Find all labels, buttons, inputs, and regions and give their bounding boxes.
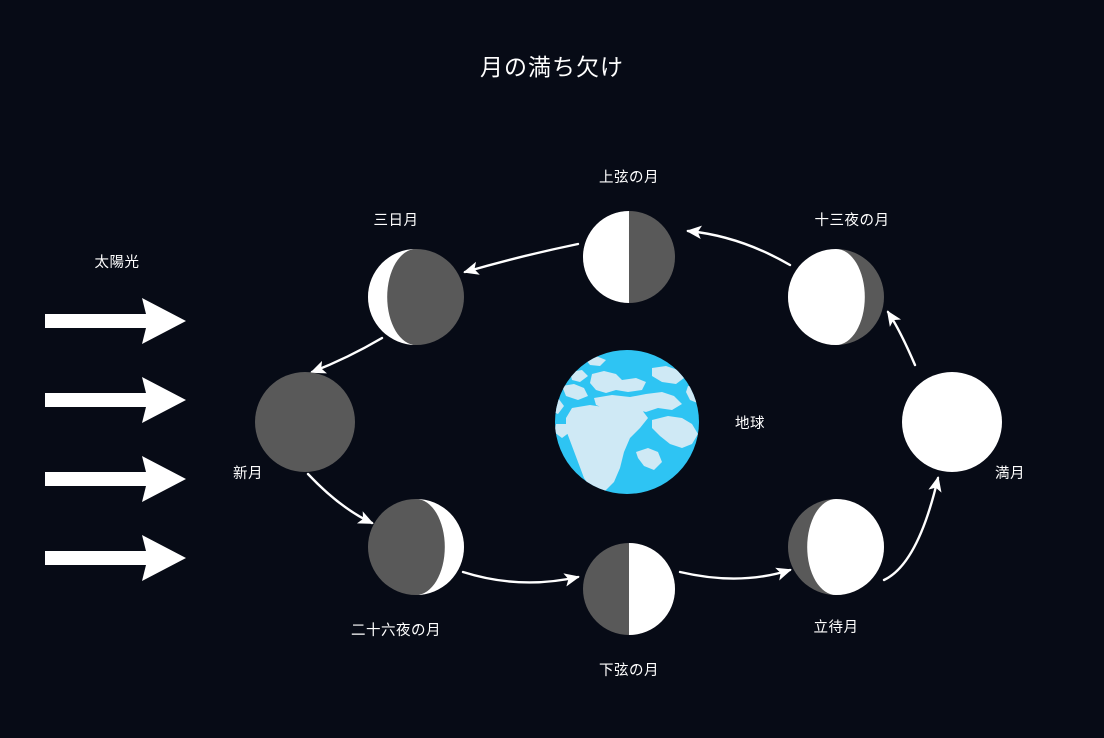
moon-twenty-sixth-night-moon [368, 499, 464, 595]
moon-lit-region [629, 543, 675, 635]
arrow-twentysixth-to-last-quarter [463, 572, 578, 582]
moon-last-quarter-moon [583, 543, 675, 635]
earth-globe [548, 350, 706, 512]
moon-label-crescent-moon: 三日月 [374, 209, 419, 230]
moon-label-full-moon: 満月 [995, 462, 1025, 483]
moon-label-thirteenth-night-moon: 十三夜の月 [815, 209, 890, 230]
sunlight-ray-arrow-2 [45, 377, 186, 423]
sunlight-label: 太陽光 [95, 251, 140, 272]
sunlight-ray-arrow-3 [45, 456, 186, 502]
moon-crescent-moon [368, 249, 464, 345]
moon-thirteenth-night-moon [788, 249, 884, 345]
moon-label-first-quarter-moon: 上弦の月 [599, 166, 659, 187]
sunlight-ray-arrow-4 [45, 535, 186, 581]
arrow-first-quarter-to-crescent [465, 244, 578, 272]
moon-disc [255, 372, 355, 472]
sunlight-ray-group [45, 298, 186, 581]
earth-label: 地球 [735, 412, 765, 433]
moon-full-moon [902, 372, 1002, 472]
moon-label-last-quarter-moon: 下弦の月 [599, 659, 659, 680]
moon-label-tachimachi-moon: 立待月 [814, 616, 859, 637]
moon-new-moon [255, 372, 355, 472]
arrow-last-quarter-to-tachimachi [680, 570, 790, 579]
arrow-full-to-thirteenth [888, 312, 915, 365]
moon-tachimachi-moon [788, 499, 884, 595]
moon-label-twenty-sixth-night-moon: 二十六夜の月 [351, 619, 441, 640]
moon-disc [902, 372, 1002, 472]
moon-phases-diagram: 月の満ち欠け 太陽光新月三日月上弦の月十三夜の月満月立待月下弦の月二十六夜の月地… [0, 0, 1104, 738]
moon-lit-region [788, 249, 865, 345]
arrow-crescent-to-new [312, 338, 382, 372]
sunlight-ray-arrow-1 [45, 298, 186, 344]
diagram-canvas [0, 0, 1104, 738]
moon-lit-region [583, 211, 629, 303]
arrow-thirteenth-to-first-quarter [688, 231, 790, 265]
moon-first-quarter-moon [583, 211, 675, 303]
arrow-new-to-twentysixth [308, 474, 372, 523]
moon-lit-region [807, 499, 884, 595]
arrow-tachimachi-to-full [884, 478, 938, 580]
moon-label-new-moon: 新月 [233, 462, 263, 483]
